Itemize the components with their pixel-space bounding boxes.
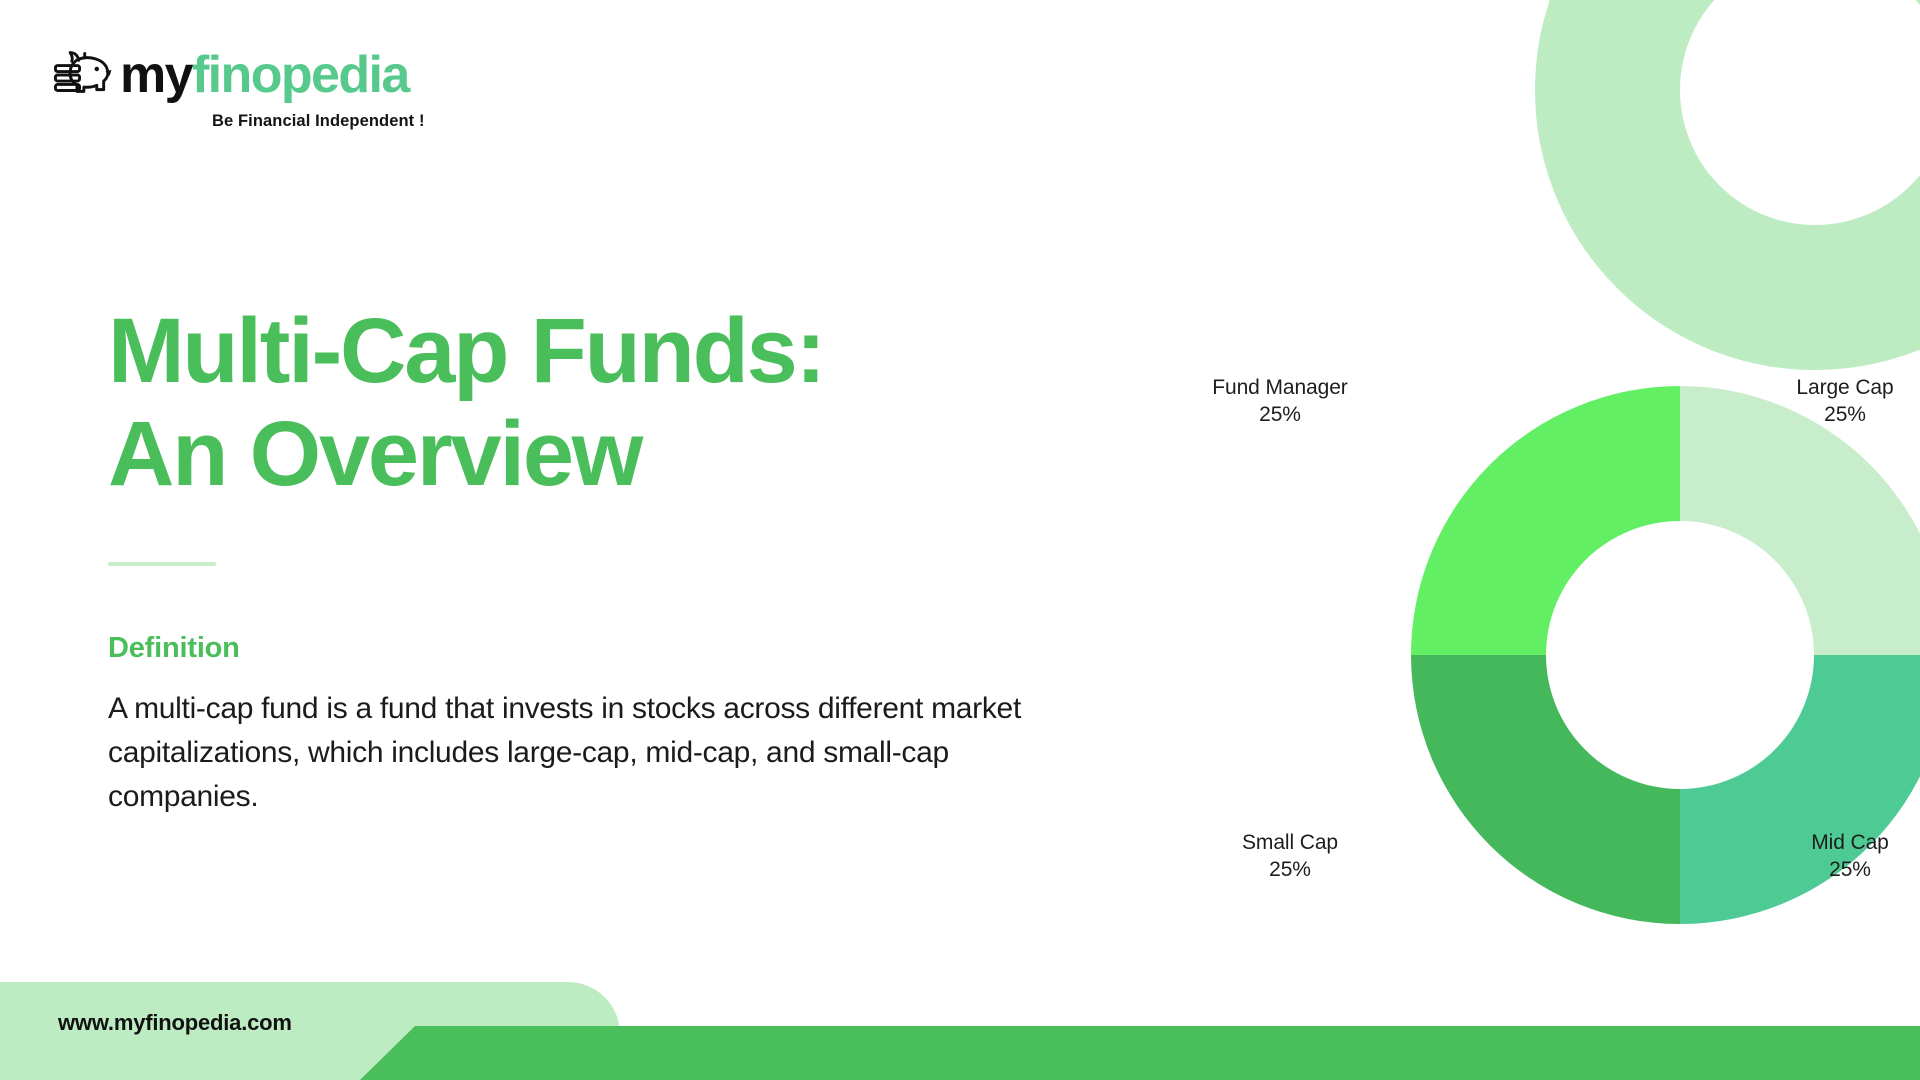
logo-tagline: Be Financial Independent !	[212, 112, 502, 131]
logo-row: myfinopedia	[52, 44, 502, 106]
hero-content: Multi-Cap Funds: An Overview Definition …	[108, 300, 1108, 849]
donut-label-fund-manager: Fund Manager 25%	[1180, 375, 1380, 429]
donut-slice-small-cap	[1411, 655, 1680, 924]
title-divider	[108, 562, 216, 566]
donut-label-mid-cap-value: 25%	[1780, 857, 1920, 884]
logo-text-finopedia: finopedia	[192, 49, 409, 101]
donut-label-large-cap-name: Large Cap	[1796, 376, 1893, 399]
definition-body: A multi-cap fund is a fund that invests …	[108, 687, 1078, 819]
footer-website-url: www.myfinopedia.com	[58, 1010, 292, 1036]
logo-text-my: my	[120, 49, 192, 101]
page-title: Multi-Cap Funds: An Overview	[108, 300, 1108, 506]
donut-label-mid-cap: Mid Cap 25%	[1780, 830, 1920, 884]
footer-accent-band	[360, 1026, 1920, 1080]
donut-label-fund-manager-value: 25%	[1180, 402, 1380, 429]
allocation-donut-chart: Fund Manager 25% Large Cap 25% Mid Cap 2…	[1180, 355, 1920, 965]
donut-label-fund-manager-name: Fund Manager	[1212, 376, 1347, 399]
brand-logo: myfinopedia Be Financial Independent !	[52, 44, 502, 136]
decorative-ring-shape	[1535, 0, 1920, 370]
donut-slice-fund-manager	[1411, 386, 1680, 655]
definition-heading: Definition	[108, 632, 1108, 665]
donut-label-large-cap: Large Cap 25%	[1770, 375, 1920, 429]
donut-label-mid-cap-name: Mid Cap	[1811, 831, 1889, 854]
donut-label-large-cap-value: 25%	[1770, 402, 1920, 429]
donut-label-small-cap-value: 25%	[1200, 857, 1380, 884]
piggy-bank-icon	[52, 50, 114, 100]
donut-label-small-cap-name: Small Cap	[1242, 831, 1338, 854]
donut-label-small-cap: Small Cap 25%	[1200, 830, 1380, 884]
